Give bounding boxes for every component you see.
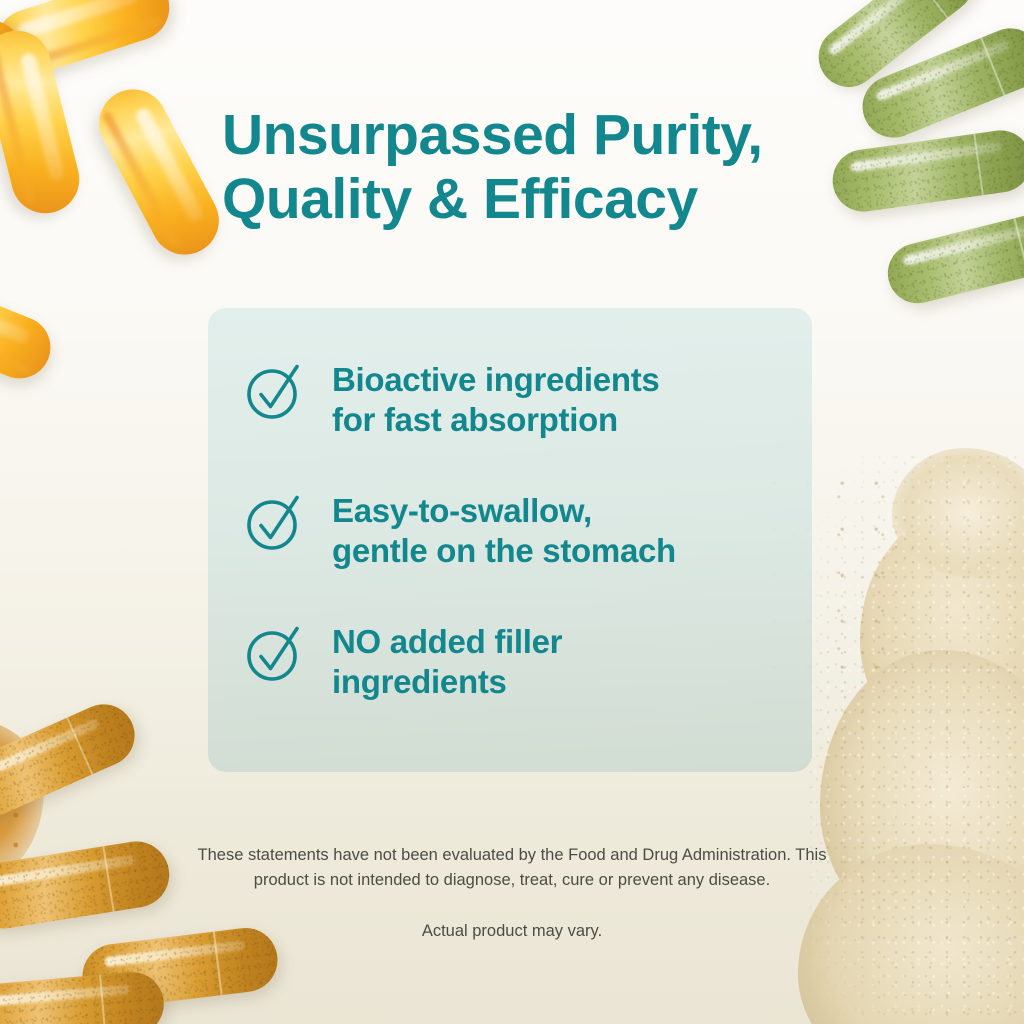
benefit-line-1: Easy-to-swallow, xyxy=(332,491,676,531)
page-title: Unsurpassed Purity, Quality & Efficacy xyxy=(222,104,822,232)
benefit-line-2: gentle on the stomach xyxy=(332,531,676,571)
benefit-line-2: ingredients xyxy=(332,662,562,702)
benefit-line-1: NO added filler xyxy=(332,622,562,662)
protein-powder-pile-decor xyxy=(808,414,1024,1024)
disclaimer: These statements have not been evaluated… xyxy=(195,843,829,944)
green-capsule xyxy=(829,126,1024,215)
list-item: Bioactive ingredients for fast absorptio… xyxy=(244,356,788,439)
benefit-line-2: for fast absorption xyxy=(332,400,659,440)
benefit-line-1: Bioactive ingredients xyxy=(332,360,659,400)
green-capsule xyxy=(853,19,1024,147)
softgel-capsule xyxy=(0,0,178,84)
golden-softgel-capsules-decor xyxy=(0,0,240,410)
green-capsule xyxy=(882,206,1024,309)
list-item: Easy-to-swallow, gentle on the stomach xyxy=(244,487,788,570)
headline-line-1: Unsurpassed Purity, xyxy=(222,104,822,168)
softgel-capsule xyxy=(87,77,231,266)
turmeric-capsule xyxy=(0,969,166,1024)
benefit-text: NO added filler ingredients xyxy=(332,618,562,701)
check-circle-icon xyxy=(244,360,306,422)
benefit-text: Bioactive ingredients for fast absorptio… xyxy=(332,356,659,439)
turmeric-capsule xyxy=(0,694,144,827)
check-circle-icon xyxy=(244,622,306,684)
green-capsule xyxy=(807,0,986,99)
disclaimer-paragraph-2: Actual product may vary. xyxy=(195,919,829,944)
softgel-capsule xyxy=(0,9,32,124)
benefits-card: Bioactive ingredients for fast absorptio… xyxy=(208,308,812,772)
benefit-list: Bioactive ingredients for fast absorptio… xyxy=(244,356,788,702)
softgel-capsule xyxy=(0,24,86,221)
promo-panel: Unsurpassed Purity, Quality & Efficacy B… xyxy=(0,0,1024,1024)
benefit-text: Easy-to-swallow, gentle on the stomach xyxy=(332,487,676,570)
turmeric-capsule xyxy=(0,837,174,933)
headline-line-2: Quality & Efficacy xyxy=(222,168,822,232)
check-circle-icon xyxy=(244,491,306,553)
disclaimer-paragraph-1: These statements have not been evaluated… xyxy=(198,846,827,889)
green-herbal-capsules-decor xyxy=(800,0,1024,316)
list-item: NO added filler ingredients xyxy=(244,618,788,701)
softgel-capsule xyxy=(0,270,60,387)
